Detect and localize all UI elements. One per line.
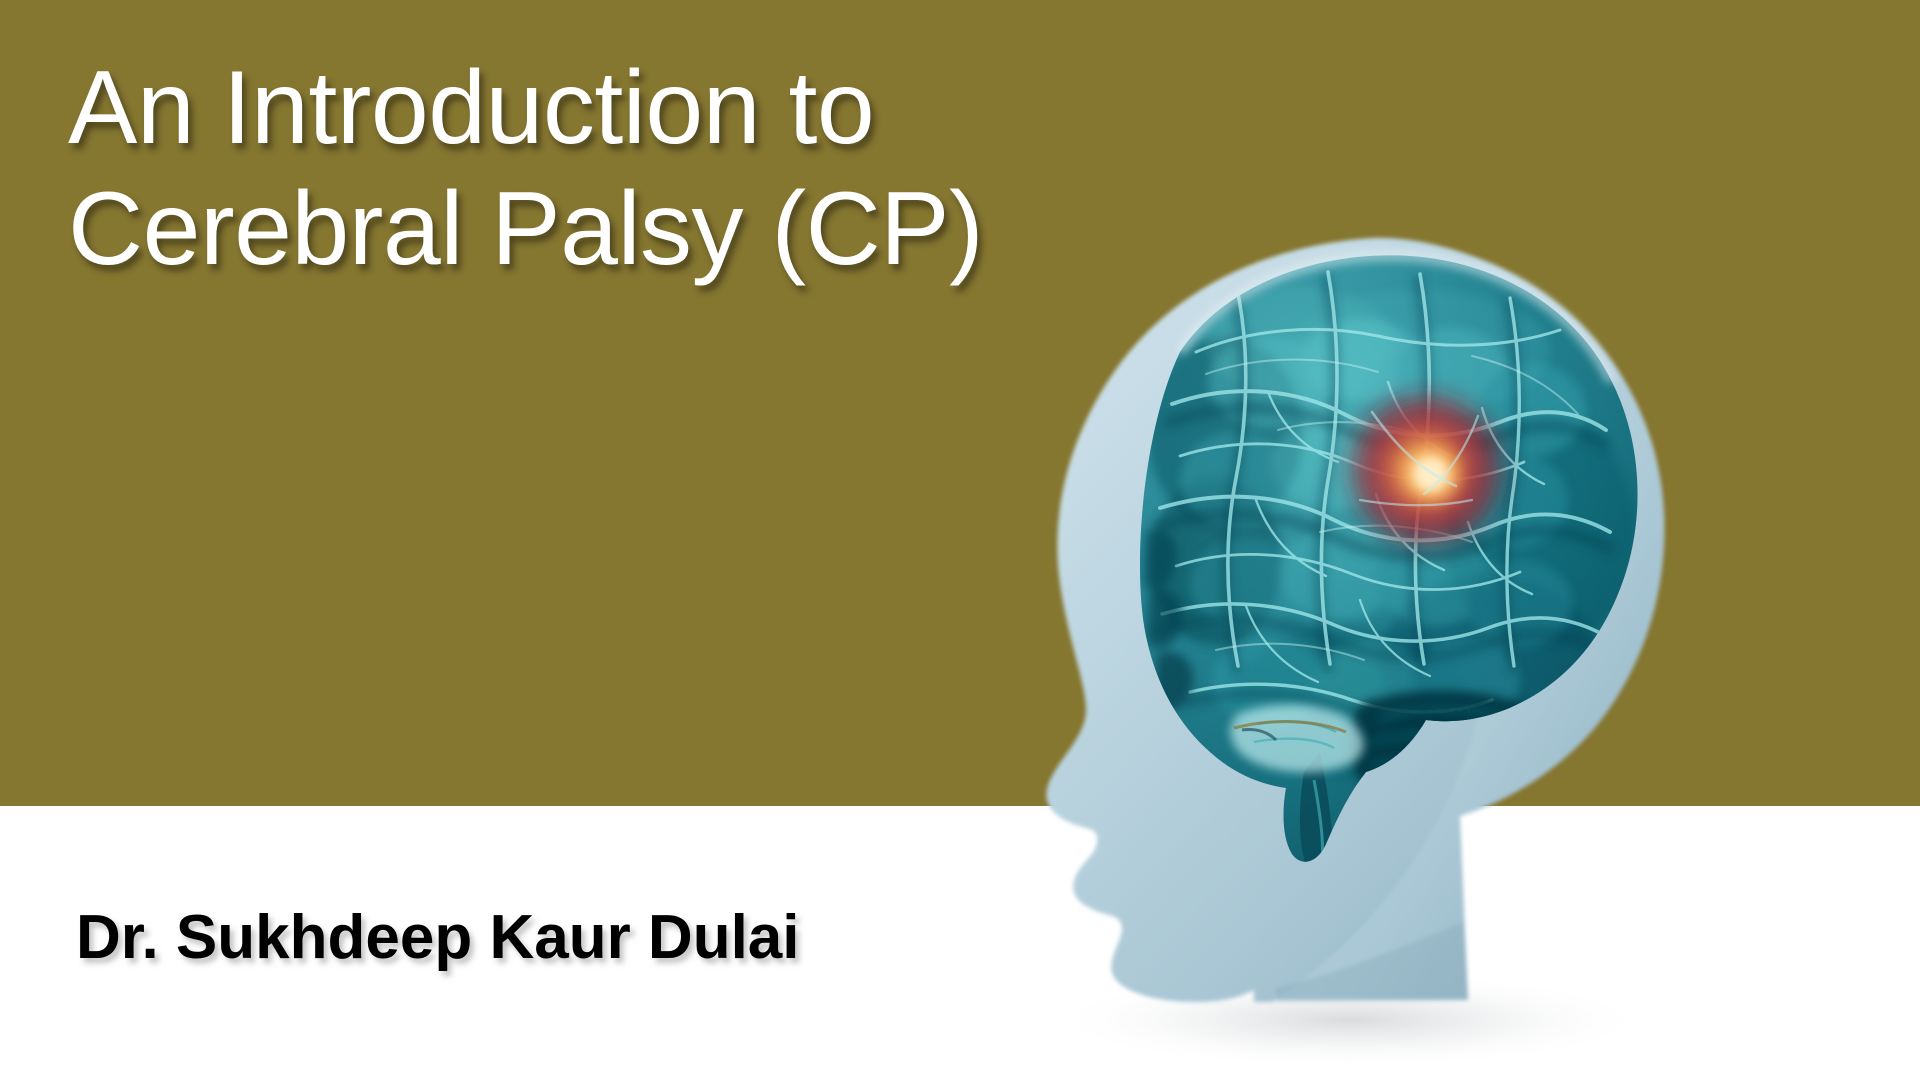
- title-line-2: Cerebral Palsy (CP): [68, 169, 1248, 290]
- author-name: Dr. Sukhdeep Kaur Dulai: [76, 902, 800, 973]
- page-title: An Introduction to Cerebral Palsy (CP): [68, 48, 1248, 289]
- brain-illustration: [1020, 232, 1720, 1032]
- title-slide: An Introduction to Cerebral Palsy (CP) D…: [0, 0, 1920, 1080]
- title-line-1: An Introduction to: [68, 48, 1248, 169]
- brain-lesion: [1340, 384, 1512, 556]
